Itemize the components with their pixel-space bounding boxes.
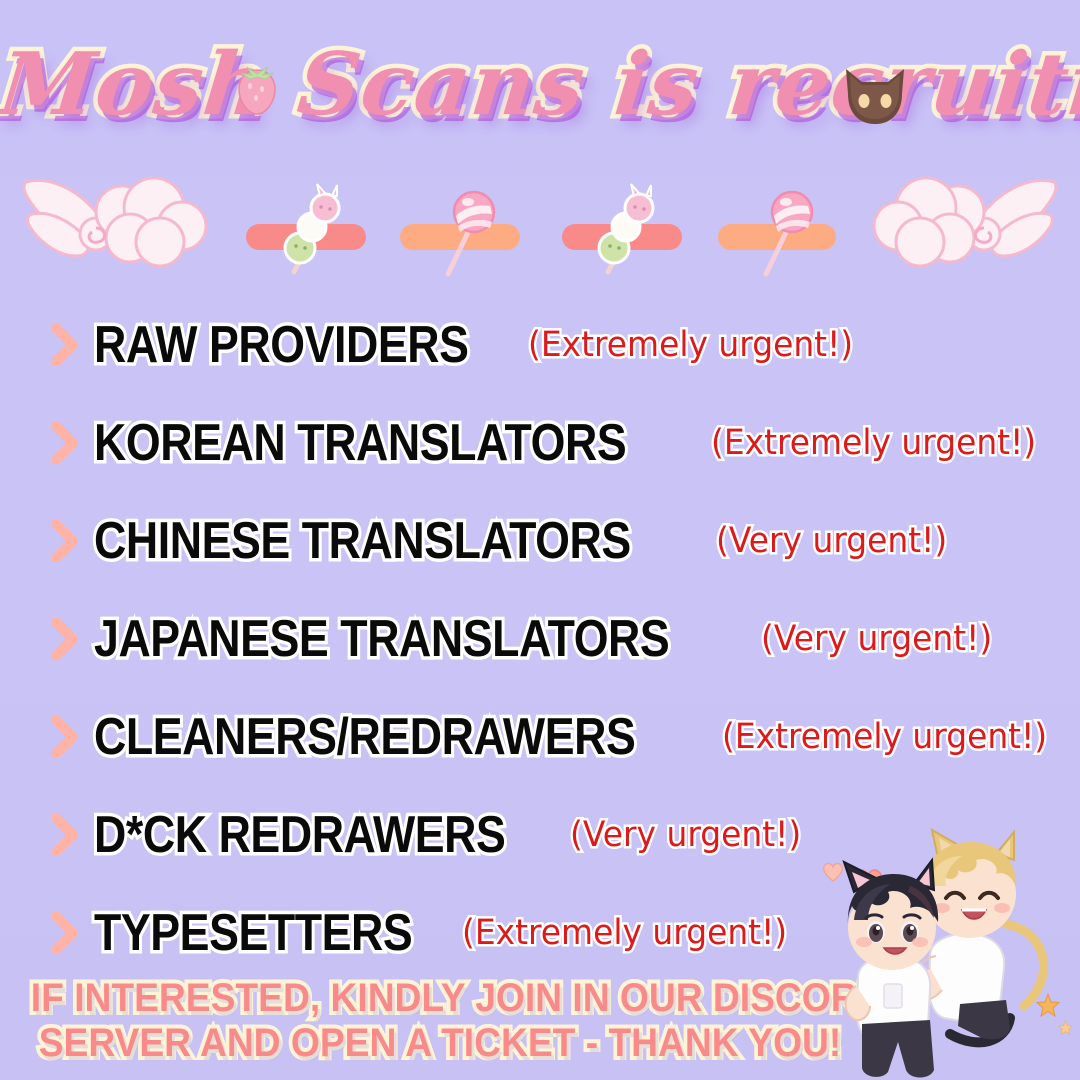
page-title: Mosh Scans is recruiting! — [0, 40, 1080, 130]
chevron-right-icon — [52, 324, 78, 366]
lollipop-icon — [746, 182, 818, 278]
chevron-right-icon — [52, 814, 78, 856]
role-urgency: (Very urgent!) — [761, 622, 992, 657]
list-item: JAPANESE TRANSLATORS (Very urgent!) — [0, 590, 1080, 688]
chevron-right-icon — [52, 422, 78, 464]
footer-line-1: IF INTERESTED, KINDLY JOIN IN OUR DISCOR… — [31, 976, 849, 1021]
bunny-dango-icon — [590, 182, 662, 278]
role-name: TYPESETTERS — [94, 907, 412, 959]
chevron-right-icon — [52, 520, 78, 562]
role-name: CHINESE TRANSLATORS — [94, 515, 631, 567]
role-urgency: (Extremely urgent!) — [722, 720, 1047, 755]
role-urgency: (Very urgent!) — [716, 524, 947, 559]
role-name: RAW PROVIDERS — [94, 319, 469, 371]
winged-cloud-icon — [18, 168, 208, 278]
list-item: CLEANERS/REDRAWERS (Extremely urgent!) — [0, 688, 1080, 786]
footer-line-2: SERVER AND OPEN A TICKET - THANK YOU! — [31, 1021, 849, 1066]
role-name: JAPANESE TRANSLATORS — [94, 613, 669, 665]
winged-cloud-icon — [872, 168, 1062, 278]
footer-message: IF INTERESTED, KINDLY JOIN IN OUR DISCOR… — [0, 976, 880, 1066]
chevron-right-icon — [52, 912, 78, 954]
role-urgency: (Very urgent!) — [570, 818, 801, 853]
role-name: KOREAN TRANSLATORS — [94, 417, 626, 469]
lollipop-icon — [428, 182, 500, 278]
role-name: D*CK REDRAWERS — [94, 809, 505, 861]
chevron-right-icon — [52, 618, 78, 660]
role-name: CLEANERS/REDRAWERS — [94, 711, 635, 763]
cat-peek-icon — [838, 64, 912, 132]
role-urgency: (Extremely urgent!) — [711, 426, 1036, 461]
role-urgency: (Extremely urgent!) — [528, 328, 853, 363]
list-item: KOREAN TRANSLATORS (Extremely urgent!) — [0, 394, 1080, 492]
chibi-characters-illustration — [810, 828, 1078, 1080]
recruitment-poster: Mosh Scans is recruiting! — [0, 0, 1080, 1080]
strawberry-icon — [232, 62, 282, 118]
list-item: RAW PROVIDERS (Extremely urgent!) — [0, 296, 1080, 394]
chevron-right-icon — [52, 716, 78, 758]
role-urgency: (Extremely urgent!) — [462, 916, 787, 951]
bunny-dango-icon — [276, 182, 348, 278]
decorative-divider — [0, 168, 1080, 280]
title-area: Mosh Scans is recruiting! — [0, 26, 1080, 166]
list-item: CHINESE TRANSLATORS (Very urgent!) — [0, 492, 1080, 590]
